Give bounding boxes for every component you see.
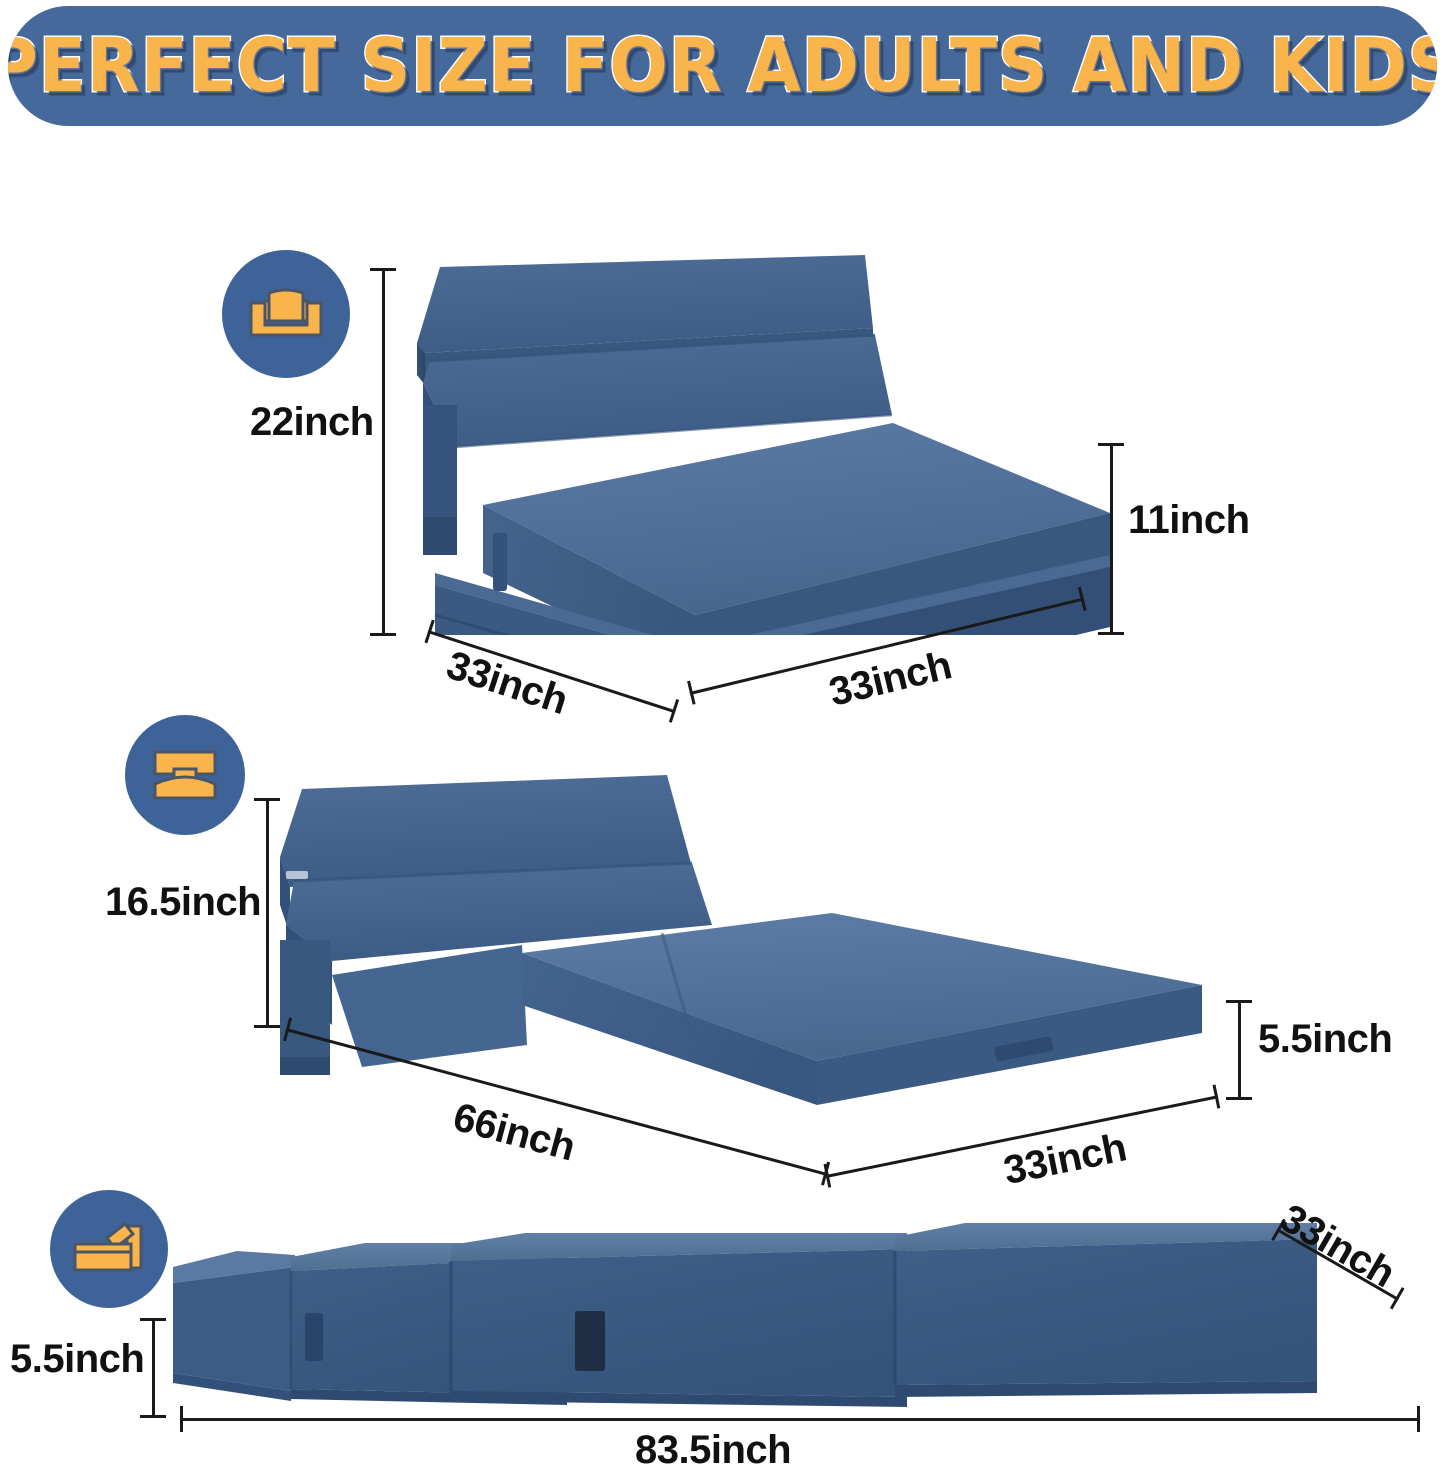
dimension-line-chair-seat-height xyxy=(1110,443,1113,635)
dimension-label-lounger-length: 66inch xyxy=(448,1095,579,1170)
sofa-chair-glyph xyxy=(243,281,329,347)
header-banner: PERFECT SIZE FOR ADULTS AND KIDS xyxy=(8,6,1437,126)
dimension-cap xyxy=(370,633,396,636)
dimension-cap xyxy=(254,1025,280,1028)
dimension-cap xyxy=(180,1406,183,1432)
dimension-cap xyxy=(1226,1000,1252,1003)
flat-bed-icon xyxy=(50,1190,168,1308)
dimension-label-lounger-back-height: 16.5inch xyxy=(105,880,261,925)
dimension-cap xyxy=(140,1318,166,1321)
dimension-cap xyxy=(1417,1406,1420,1432)
dimension-line-lounger-back-height xyxy=(266,798,269,1028)
dimension-cap xyxy=(254,798,280,801)
dimension-line-bed-thickness xyxy=(152,1318,155,1418)
dimension-cap xyxy=(370,268,396,271)
dimension-cap xyxy=(1098,443,1124,446)
dimension-cap xyxy=(1226,1097,1252,1100)
dimension-label-lounger-thickness: 5.5inch xyxy=(1258,1017,1392,1062)
product-image-bed xyxy=(165,1205,1325,1420)
dimension-line-chair-height xyxy=(382,268,385,636)
sofa-chair-icon xyxy=(222,250,350,378)
dimension-cap xyxy=(1098,632,1124,635)
dimension-label-bed-thickness: 5.5inch xyxy=(10,1337,144,1382)
dimension-label-chair-seat-height: 11inch xyxy=(1128,498,1250,543)
page-title: PERFECT SIZE FOR ADULTS AND KIDS xyxy=(8,29,1437,103)
dimension-label-bed-length: 83.5inch xyxy=(635,1428,791,1472)
recliner-lounger-glyph xyxy=(143,744,227,806)
product-dimension-infographic: PERFECT SIZE FOR ADULTS AND KIDS xyxy=(0,0,1445,1472)
flat-bed-glyph xyxy=(67,1218,151,1280)
dimension-label-chair-height: 22inch xyxy=(250,400,374,445)
product-image-chair xyxy=(395,255,1115,635)
product-image-lounger xyxy=(272,775,1222,1105)
dimension-cap xyxy=(140,1415,166,1418)
dimension-line-bed-length xyxy=(180,1418,1420,1421)
dimension-line-lounger-thickness xyxy=(1238,1000,1241,1100)
recliner-lounger-icon xyxy=(125,715,245,835)
